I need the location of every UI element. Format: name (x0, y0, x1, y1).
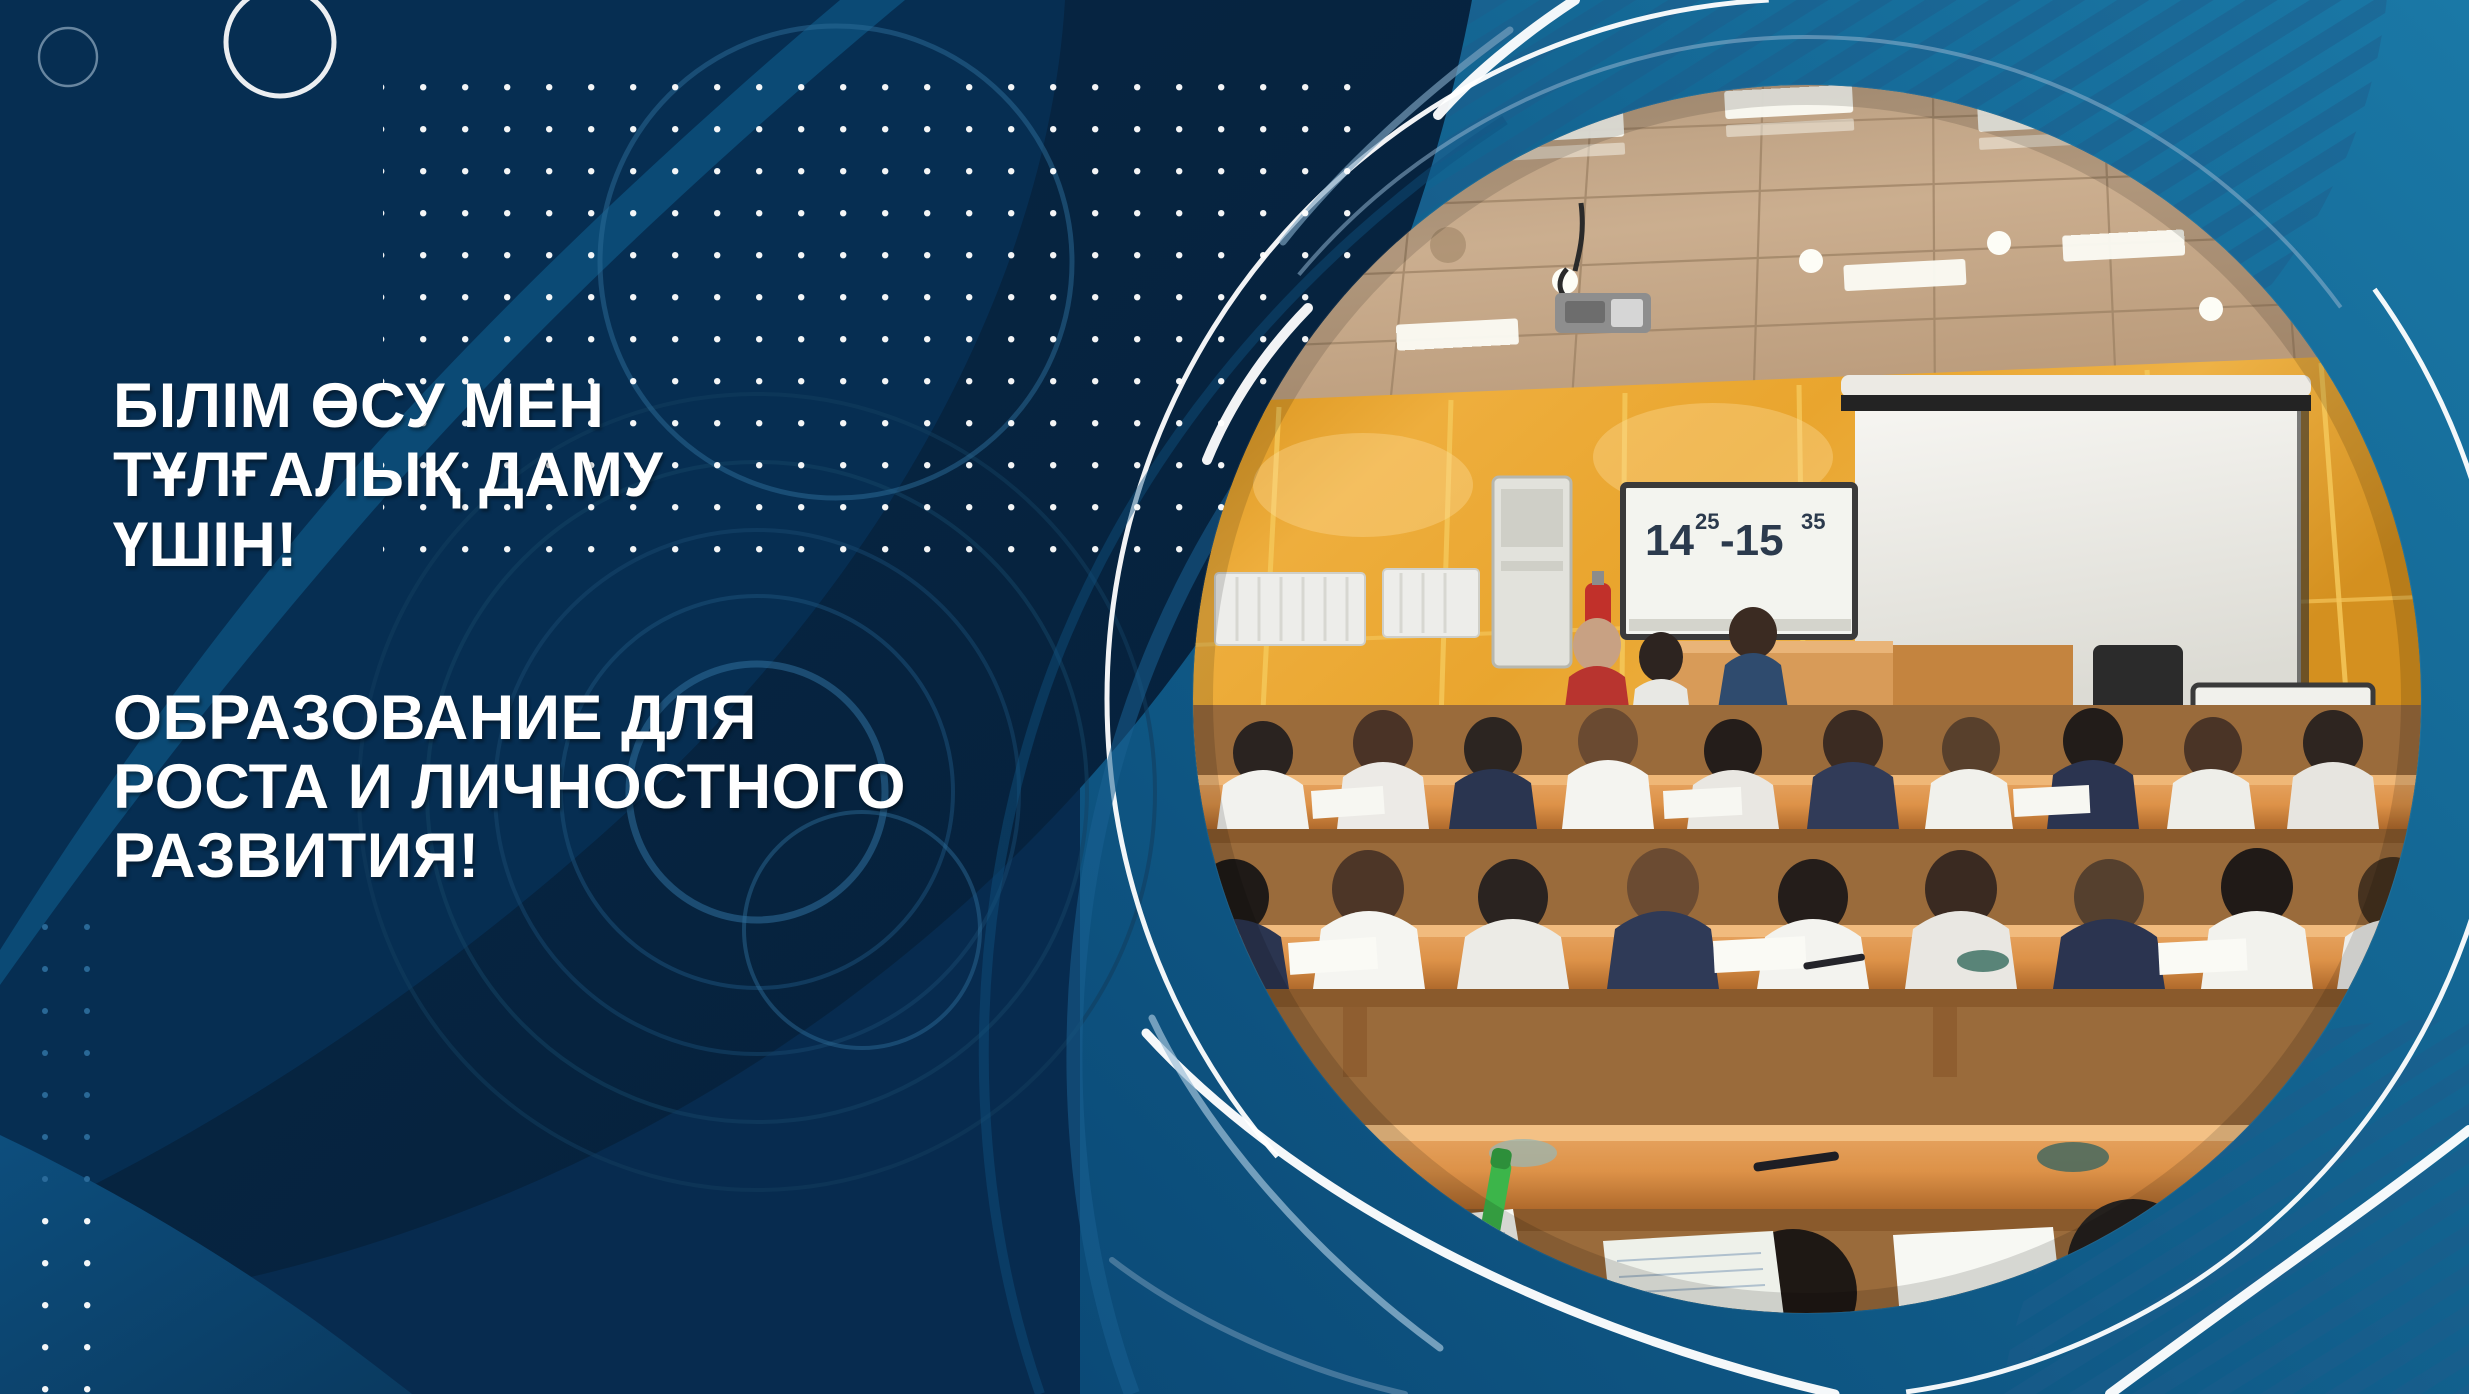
dot-grid-left (24, 920, 104, 1220)
svg-text:25: 25 (1695, 509, 1719, 534)
air-conditioner (1493, 477, 1571, 667)
svg-text:35: 35 (1801, 509, 1825, 534)
lecture-hall-photo: 14 25 -15 35 (1193, 85, 2421, 1313)
svg-text:14: 14 (1645, 516, 1694, 565)
headline-kazakh: БІЛІМ ӨСУ МЕН ТҰЛҒАЛЫҚ ДАМУ ҮШІН! (113, 372, 913, 580)
headline-block: БІЛІМ ӨСУ МЕН ТҰЛҒАЛЫҚ ДАМУ ҮШІН! ОБРАЗО… (113, 372, 913, 892)
headline-russian: ОБРАЗОВАНИЕ ДЛЯ РОСТА И ЛИЧНОСТНОГО РАЗВ… (113, 684, 913, 892)
dot-grid-left-bottom (24, 1215, 104, 1394)
promotional-banner: 14 25 -15 35 (0, 0, 2469, 1394)
svg-text:-15: -15 (1720, 516, 1784, 565)
